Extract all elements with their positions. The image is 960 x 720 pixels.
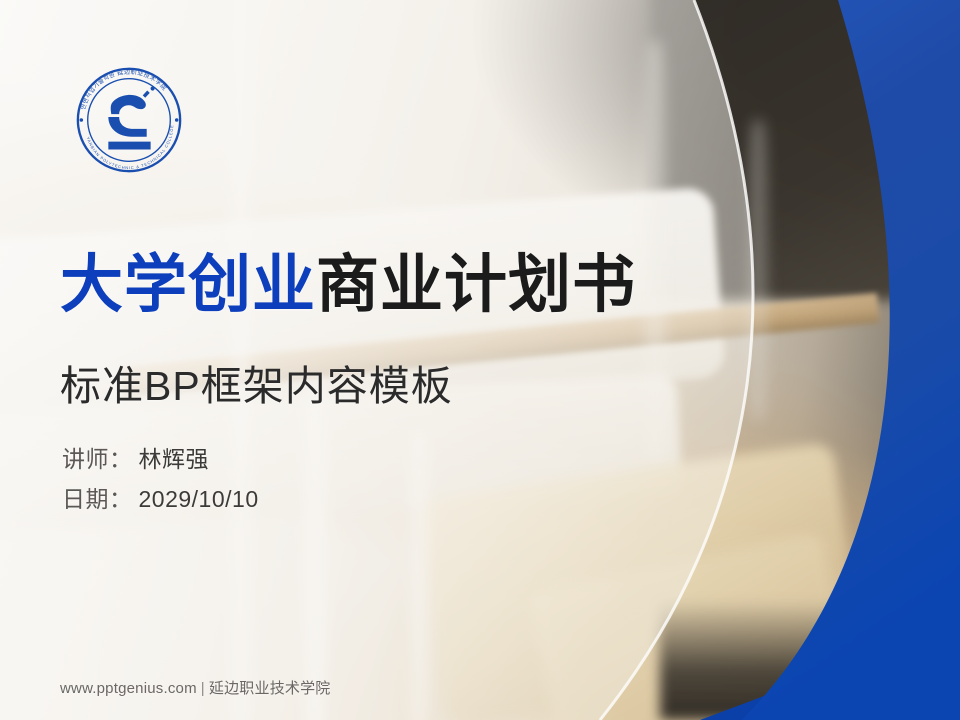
slide-meta: 讲师：林辉强 日期：2029/10/10 xyxy=(62,440,259,519)
page-subtitle: 标准BP框架内容模板 xyxy=(60,352,453,412)
title-rest: 商业计划书 xyxy=(316,250,636,320)
date-row: 日期：2029/10/10 xyxy=(62,480,259,520)
presentation-title-slide: 연변직업기술학원 延边职业技术学院 YANBIAN POLYTECHNIC & … xyxy=(0,0,960,720)
college-logo-icon: 연변직업기술학원 延边职业技术学院 YANBIAN POLYTECHNIC & … xyxy=(70,60,188,180)
date-value: 2029/10/10 xyxy=(139,486,259,512)
page-title: 大学创业商业计划书 xyxy=(60,252,636,318)
footer-website[interactable]: www.pptgenius.com xyxy=(60,680,197,697)
date-label: 日期： xyxy=(62,486,133,512)
footer-organization: 延边职业技术学院 xyxy=(209,680,331,697)
slide-content: 연변직업기술학원 延边职业技术学院 YANBIAN POLYTECHNIC & … xyxy=(0,0,960,720)
presenter-value: 林辉强 xyxy=(139,446,210,472)
title-highlight: 大学创业 xyxy=(60,250,316,320)
footer-separator: | xyxy=(201,680,205,697)
presenter-label: 讲师： xyxy=(62,446,133,472)
presenter-row: 讲师：林辉强 xyxy=(62,440,259,480)
slide-footer: www.pptgenius.com|延边职业技术学院 xyxy=(60,677,331,698)
